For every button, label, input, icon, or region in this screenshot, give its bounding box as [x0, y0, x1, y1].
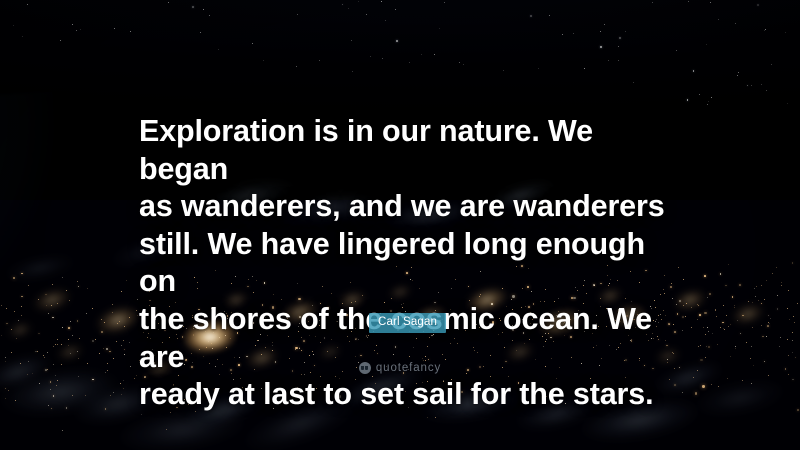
quotefancy-logo-icon — [359, 362, 371, 374]
author-badge[interactable]: Carl Sagan — [369, 313, 446, 333]
quote-card: Exploration is in our nature. We began a… — [0, 0, 800, 450]
watermark-label: quotefancy — [376, 362, 441, 374]
watermark[interactable]: quotefancy — [0, 362, 800, 374]
